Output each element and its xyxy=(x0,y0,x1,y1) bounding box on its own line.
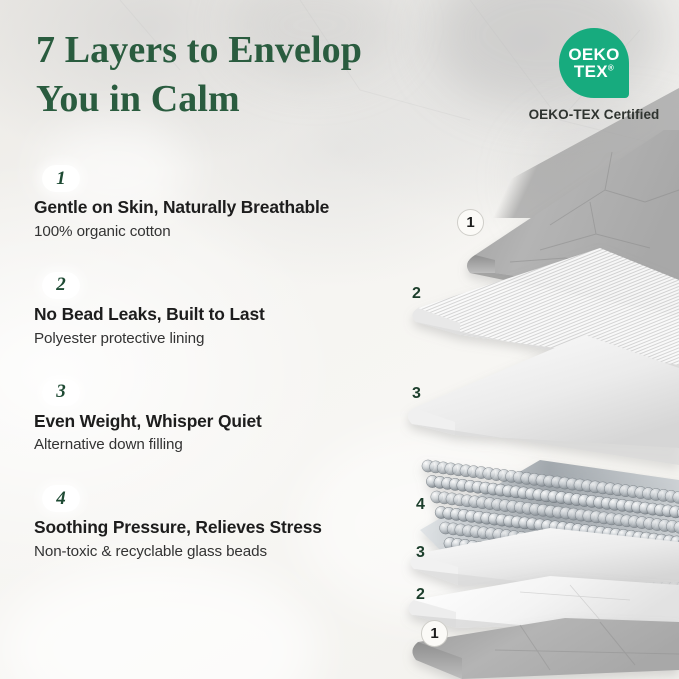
feature-item: 3 Even Weight, Whisper Quiet Alternative… xyxy=(34,379,414,455)
feature-number-badge: 3 xyxy=(42,379,80,406)
oeko-logo-line-1: OEKO xyxy=(568,46,619,63)
feature-title: Gentle on Skin, Naturally Breathable xyxy=(34,197,414,219)
page-title-line-2: You in Calm xyxy=(36,75,466,124)
feature-item: 1 Gentle on Skin, Naturally Breathable 1… xyxy=(34,165,414,241)
feature-title: No Bead Leaks, Built to Last xyxy=(34,304,414,326)
feature-subtitle: 100% organic cotton xyxy=(34,222,414,241)
layer-label-1-bottom: 1 xyxy=(421,620,448,647)
feature-number-badge: 1 xyxy=(42,165,80,192)
layer-stack-graphic xyxy=(400,130,679,679)
feature-title: Soothing Pressure, Relieves Stress xyxy=(34,517,414,539)
feature-item: 2 No Bead Leaks, Built to Last Polyester… xyxy=(34,272,414,348)
registered-mark-icon: ® xyxy=(608,63,614,72)
layer-label-3-top: 3 xyxy=(412,385,421,403)
feature-number-badge: 2 xyxy=(42,272,80,299)
page-title: 7 Layers to Envelop You in Calm xyxy=(36,26,466,125)
layer-1-bottom xyxy=(412,618,679,679)
feature-subtitle: Non-toxic & recyclable glass beads xyxy=(34,542,414,561)
layer-label-1-top: 1 xyxy=(457,209,484,236)
layer-label-3-bottom: 3 xyxy=(416,544,425,562)
oeko-tex-logo-icon: OEKO TEX® xyxy=(559,28,629,98)
layer-label-2-top: 2 xyxy=(412,285,421,303)
certification-caption: OEKO-TEX Certified xyxy=(521,107,667,122)
feature-subtitle: Polyester protective lining xyxy=(34,329,414,348)
feature-title: Even Weight, Whisper Quiet xyxy=(34,411,414,433)
infographic-canvas: 7 Layers to Envelop You in Calm OEKO TEX… xyxy=(0,0,679,679)
layer-label-4-beads: 4 xyxy=(416,496,425,514)
layer-3-top xyxy=(408,335,679,465)
feature-subtitle: Alternative down filling xyxy=(34,435,414,454)
feature-list: 1 Gentle on Skin, Naturally Breathable 1… xyxy=(34,165,414,592)
feature-number-badge: 4 xyxy=(42,485,80,512)
page-title-line-1: 7 Layers to Envelop xyxy=(36,26,466,75)
layer-stack-illustration: 1 2 3 4 3 2 1 xyxy=(400,130,679,679)
oeko-tex-certification: OEKO TEX® OEKO-TEX Certified xyxy=(521,28,667,122)
oeko-logo-line-2: TEX® xyxy=(574,63,614,80)
feature-item: 4 Soothing Pressure, Relieves Stress Non… xyxy=(34,485,414,561)
layer-label-2-bottom: 2 xyxy=(416,586,425,604)
